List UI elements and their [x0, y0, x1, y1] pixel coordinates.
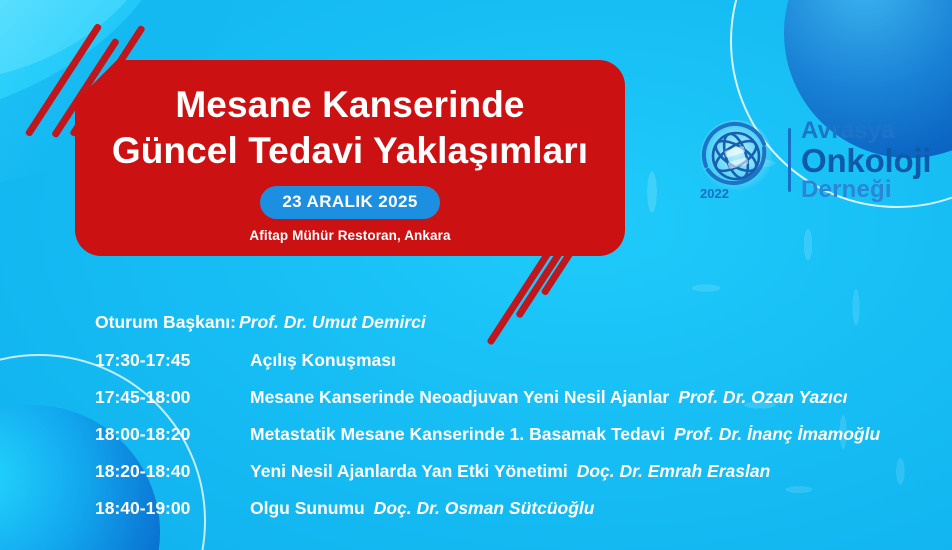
session-chair-name: Prof. Dr. Umut Demirci	[239, 312, 426, 332]
schedule-time: 17:45-18:00	[95, 387, 250, 408]
logo-word-avrasya: Avrasya	[801, 119, 931, 143]
schedule-title: Yeni Nesil Ajanlarda Yan Etki Yönetimi	[250, 461, 568, 482]
association-logo: 2022 Avrasya Onkoloji Derneği	[690, 112, 942, 208]
date-badge: 23 ARALIK 2025	[260, 186, 439, 219]
title-card: Mesane Kanserinde Güncel Tedavi Yaklaşım…	[75, 60, 625, 256]
title-line-1: Mesane Kanserinde	[175, 82, 524, 128]
svg-text:2022: 2022	[700, 186, 729, 201]
logo-wordmark: Avrasya Onkoloji Derneği	[801, 119, 931, 202]
schedule-row: 18:00-18:20 Metastatik Mesane Kanserinde…	[95, 424, 944, 445]
schedule-time: 18:20-18:40	[95, 461, 250, 482]
venue-label: Afitap Mühür Restoran, Ankara	[249, 228, 450, 243]
logo-word-dernegi: Derneği	[801, 178, 931, 202]
session-chair-row: Oturum Başkanı:Prof. Dr. Umut Demirci	[95, 312, 944, 333]
schedule-title: Açılış Konuşması	[250, 350, 396, 371]
schedule-speaker: Doç. Dr. Emrah Eraslan	[577, 461, 771, 482]
schedule-row: 18:20-18:40 Yeni Nesil Ajanlarda Yan Etk…	[95, 461, 944, 482]
schedule-time: 17:30-17:45	[95, 350, 250, 371]
schedule-title: Metastatik Mesane Kanserinde 1. Basamak …	[250, 424, 665, 445]
conference-poster: Mesane Kanserinde Güncel Tedavi Yaklaşım…	[0, 0, 952, 550]
globe-emblem-icon: 2022	[690, 114, 782, 206]
schedule-time: 18:40-19:00	[95, 498, 250, 519]
title-line-2: Güncel Tedavi Yaklaşımları	[112, 128, 588, 174]
schedule-time: 18:00-18:20	[95, 424, 250, 445]
logo-word-onkoloji: Onkoloji	[801, 144, 931, 177]
logo-divider	[788, 128, 791, 192]
schedule-speaker: Prof. Dr. Ozan Yazıcı	[678, 387, 847, 408]
schedule-title: Olgu Sunumu	[250, 498, 365, 519]
schedule-speaker: Doç. Dr. Osman Sütcüoğlu	[374, 498, 595, 519]
schedule-row: 17:45-18:00 Mesane Kanserinde Neoadjuvan…	[95, 387, 944, 408]
programme-list: Oturum Başkanı:Prof. Dr. Umut Demirci 17…	[95, 312, 944, 535]
schedule-title: Mesane Kanserinde Neoadjuvan Yeni Nesil …	[250, 387, 669, 408]
schedule-row: 18:40-19:00 Olgu Sunumu Doç. Dr. Osman S…	[95, 498, 944, 519]
schedule-row: 17:30-17:45 Açılış Konuşması	[95, 350, 944, 371]
schedule-speaker: Prof. Dr. İnanç İmamoğlu	[674, 424, 880, 445]
session-chair-label: Oturum Başkanı:	[95, 312, 236, 332]
